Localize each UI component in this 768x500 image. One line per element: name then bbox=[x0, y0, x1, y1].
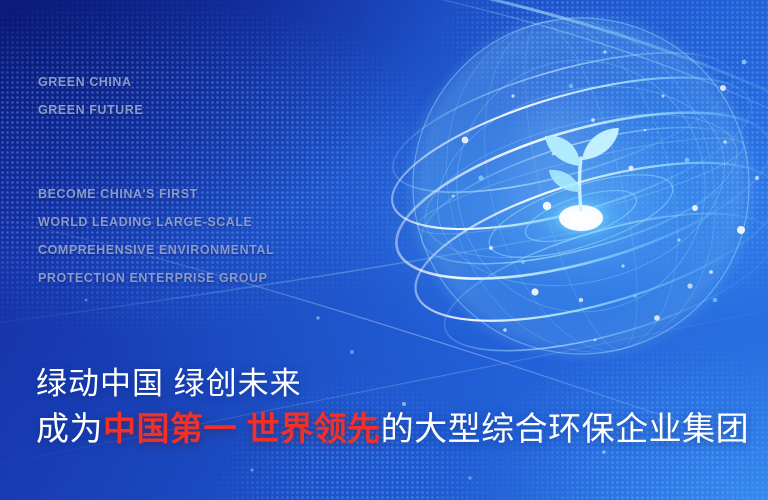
mission-line: WORLD LEADING LARGE-SCALE bbox=[38, 208, 274, 236]
headline-line-1: 绿动中国 绿创未来 bbox=[36, 362, 749, 406]
tagline-line: GREEN FUTURE bbox=[38, 96, 143, 124]
headline-segment-plain-tail: 的大型综合环保企业集团 bbox=[381, 410, 750, 447]
headline-segment-plain-lead: 成为 bbox=[36, 410, 103, 447]
headline-chinese: 绿动中国 绿创未来 成为中国第一 世界领先的大型综合环保企业集团 bbox=[36, 362, 749, 452]
promotional-banner: GREEN CHINA GREEN FUTURE BECOME CHINA'S … bbox=[0, 0, 768, 500]
mission-statement-english: BECOME CHINA'S FIRST WORLD LEADING LARGE… bbox=[38, 180, 274, 292]
headline-line-2: 成为中国第一 世界领先的大型综合环保企业集团 bbox=[36, 406, 749, 452]
headline-segment-highlight: 中国第一 世界领先 bbox=[103, 410, 381, 447]
wireframe-globe bbox=[395, 0, 767, 372]
tagline-line: GREEN CHINA bbox=[38, 68, 143, 96]
mission-line: BECOME CHINA'S FIRST bbox=[38, 180, 274, 208]
tagline-english-primary: GREEN CHINA GREEN FUTURE bbox=[38, 68, 143, 124]
mission-line: PROTECTION ENTERPRISE GROUP bbox=[38, 264, 274, 292]
mission-line: COMPREHENSIVE ENVIRONMENTAL bbox=[38, 236, 274, 264]
